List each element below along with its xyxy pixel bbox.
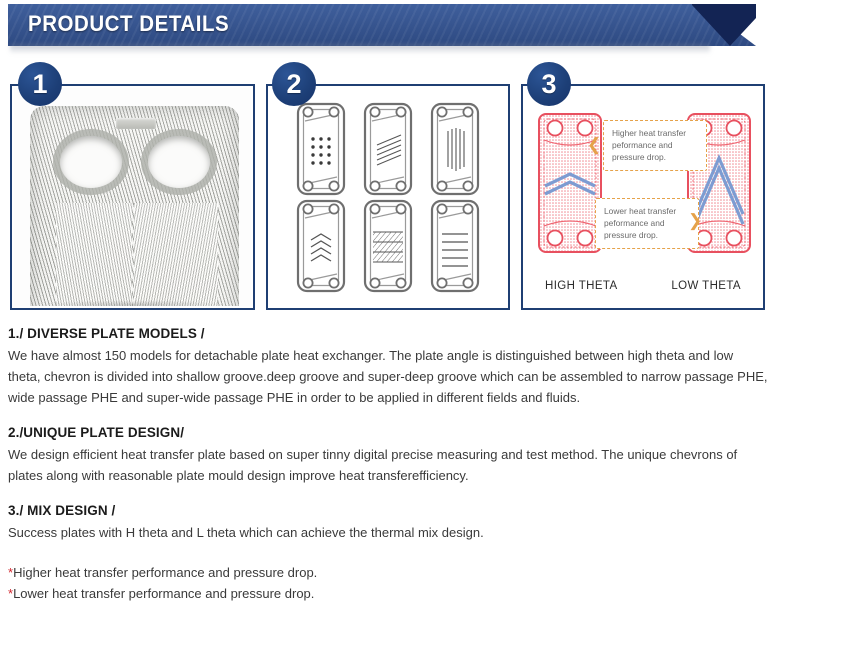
section-heading: 2./UNIQUE PLATE DESIGN/ bbox=[8, 425, 768, 440]
heat-exchanger-plate-photo-icon bbox=[14, 88, 251, 306]
section-mix-design: 3./ MIX DESIGN / Success plates with H t… bbox=[8, 503, 768, 543]
callout-lower-performance: Lower heat transfer peformance and press… bbox=[595, 198, 699, 249]
theta-plate-diagram-icon: Higher heat transfer peformance and pres… bbox=[525, 88, 761, 306]
footnote-text: Higher heat transfer performance and pre… bbox=[13, 565, 317, 580]
plate-model-item bbox=[355, 197, 422, 294]
plate-vertical-icon bbox=[429, 101, 481, 197]
plate-models-panel bbox=[266, 84, 510, 310]
section-unique-plate-design: 2./UNIQUE PLATE DESIGN/ We design effici… bbox=[8, 425, 768, 486]
footnote-item: *Higher heat transfer performance and pr… bbox=[8, 562, 768, 583]
plate-model-item bbox=[421, 197, 488, 294]
plate-chevron-icon bbox=[295, 198, 347, 294]
plate-horizontal-icon bbox=[429, 198, 481, 294]
plate-lower-left-field bbox=[56, 203, 132, 306]
plate-alignment-tab bbox=[116, 118, 156, 129]
theta-comparison-panel: Higher heat transfer peformance and pres… bbox=[521, 84, 765, 310]
plate-photo-panel bbox=[10, 84, 255, 310]
panel-badge-3: 3 bbox=[527, 62, 571, 106]
section-heading: 3./ MIX DESIGN / bbox=[8, 503, 768, 518]
panel-badge-1: 1 bbox=[18, 62, 62, 106]
plate-diagonal-icon bbox=[362, 101, 414, 197]
low-theta-label: LOW THETA bbox=[671, 280, 741, 292]
plate-photo-shadow bbox=[38, 300, 228, 306]
banner-drop-shadow bbox=[10, 44, 710, 54]
plate-dots-icon bbox=[295, 101, 347, 197]
arrow-right-icon: ❯ bbox=[688, 212, 702, 229]
footnote-text: Lower heat transfer performance and pres… bbox=[13, 586, 314, 601]
high-theta-label: HIGH THETA bbox=[545, 280, 618, 292]
page-title: PRODUCT DETAILS bbox=[28, 11, 229, 37]
footnotes: *Higher heat transfer performance and pr… bbox=[8, 562, 768, 604]
section-heading: 1./ DIVERSE PLATE MODELS / bbox=[8, 326, 768, 341]
plate-model-diagrams-icon bbox=[270, 88, 506, 306]
callout-higher-performance: Higher heat transfer peformance and pres… bbox=[603, 120, 707, 171]
section-body: We design efficient heat transfer plate … bbox=[8, 444, 768, 486]
plate-lower-right-field bbox=[134, 203, 218, 306]
plate-model-item bbox=[421, 100, 488, 197]
plate-corrugated-body bbox=[30, 106, 239, 306]
section-body: Success plates with H theta and L theta … bbox=[8, 522, 768, 543]
section-diverse-plate-models: 1./ DIVERSE PLATE MODELS / We have almos… bbox=[8, 326, 768, 408]
plate-port-right bbox=[148, 136, 210, 188]
arrow-left-icon: ❮ bbox=[587, 136, 601, 153]
panel-badge-2: 2 bbox=[272, 62, 316, 106]
plate-model-item bbox=[355, 100, 422, 197]
product-description-content: 1./ DIVERSE PLATE MODELS / We have almos… bbox=[8, 326, 768, 604]
plate-model-item bbox=[288, 100, 355, 197]
page-header-banner: PRODUCT DETAILS bbox=[0, 0, 848, 56]
section-body: We have almost 150 models for detachable… bbox=[8, 345, 768, 408]
footnote-item: *Lower heat transfer performance and pre… bbox=[8, 583, 768, 604]
plate-hatch-icon bbox=[362, 198, 414, 294]
plate-model-item bbox=[288, 197, 355, 294]
plate-port-left bbox=[60, 136, 122, 188]
